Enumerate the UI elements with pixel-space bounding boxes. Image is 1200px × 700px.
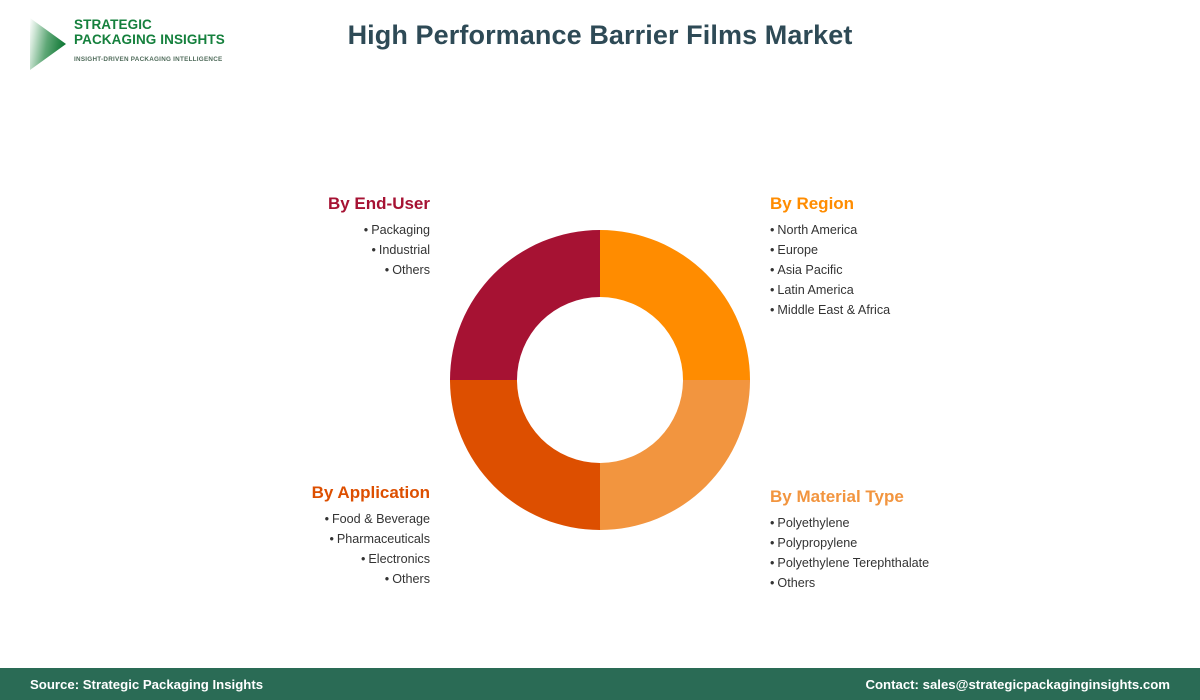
segment-application-title: By Application: [180, 483, 430, 503]
list-item-label: Pharmaceuticals: [337, 532, 430, 546]
list-item-label: Polyethylene Terephthalate: [777, 556, 929, 570]
bullet-icon: •: [325, 512, 332, 526]
list-item: •Others: [180, 569, 430, 589]
list-item-label: Polyethylene: [777, 516, 849, 530]
segment-application: By Application •Food & Beverage•Pharmace…: [180, 483, 430, 589]
logo-tagline: INSIGHT-DRIVEN PACKAGING INTELLIGENCE: [74, 56, 237, 63]
list-item: •Food & Beverage: [180, 509, 430, 529]
list-item: •Middle East & Africa: [770, 300, 1100, 320]
list-item-label: Packaging: [371, 223, 430, 237]
page-title: High Performance Barrier Films Market: [0, 20, 1200, 51]
list-item: •Others: [770, 573, 1110, 593]
list-item: •Polyethylene: [770, 513, 1110, 533]
list-item: •Packaging: [190, 220, 430, 240]
list-item: •Polypropylene: [770, 533, 1110, 553]
bullet-icon: •: [329, 532, 336, 546]
list-item-label: Others: [392, 263, 430, 277]
segment-end-user: By End-User •Packaging•Industrial•Others: [190, 194, 430, 280]
segment-end-user-title: By End-User: [190, 194, 430, 214]
list-item-label: Middle East & Africa: [777, 303, 890, 317]
list-item-label: Others: [392, 572, 430, 586]
segment-end-user-list: •Packaging•Industrial•Others: [190, 220, 430, 280]
donut-slice-application: [450, 380, 600, 530]
footer-contact[interactable]: Contact: sales@strategicpackaginginsight…: [865, 677, 1170, 692]
list-item-label: Europe: [777, 243, 818, 257]
segment-region-list: •North America•Europe•Asia Pacific•Latin…: [770, 220, 1100, 320]
list-item-label: Others: [777, 576, 815, 590]
segment-material-type-list: •Polyethylene•Polypropylene•Polyethylene…: [770, 513, 1110, 593]
footer-source: Source: Strategic Packaging Insights: [30, 677, 263, 692]
list-item-label: Industrial: [379, 243, 430, 257]
donut-slice-material-type: [600, 380, 750, 530]
infographic-page: STRATEGIC PACKAGING INSIGHTS INSIGHT-DRI…: [0, 0, 1200, 700]
list-item: •Pharmaceuticals: [180, 529, 430, 549]
list-item: •Asia Pacific: [770, 260, 1100, 280]
donut-slice-region: [600, 230, 750, 380]
segment-region-title: By Region: [770, 194, 1100, 214]
list-item: •North America: [770, 220, 1100, 240]
segment-material-type: By Material Type •Polyethylene•Polypropy…: [770, 487, 1110, 593]
list-item-label: Electronics: [368, 552, 430, 566]
donut-slice-end-user: [450, 230, 600, 380]
list-item-label: Latin America: [777, 283, 853, 297]
list-item-label: Food & Beverage: [332, 512, 430, 526]
list-item: •Latin America: [770, 280, 1100, 300]
list-item: •Europe: [770, 240, 1100, 260]
list-item: •Others: [190, 260, 430, 280]
donut-chart-svg: [450, 230, 750, 530]
list-item-label: Polypropylene: [777, 536, 857, 550]
segment-application-list: •Food & Beverage•Pharmaceuticals•Electro…: [180, 509, 430, 589]
donut-chart: [450, 230, 750, 530]
bullet-icon: •: [371, 243, 378, 257]
list-item: •Electronics: [180, 549, 430, 569]
segment-region: By Region •North America•Europe•Asia Pac…: [770, 194, 1100, 320]
footer-bar: Source: Strategic Packaging Insights Con…: [0, 668, 1200, 700]
list-item-label: North America: [777, 223, 857, 237]
list-item-label: Asia Pacific: [777, 263, 842, 277]
list-item: •Industrial: [190, 240, 430, 260]
segment-material-type-title: By Material Type: [770, 487, 1110, 507]
list-item: •Polyethylene Terephthalate: [770, 553, 1110, 573]
